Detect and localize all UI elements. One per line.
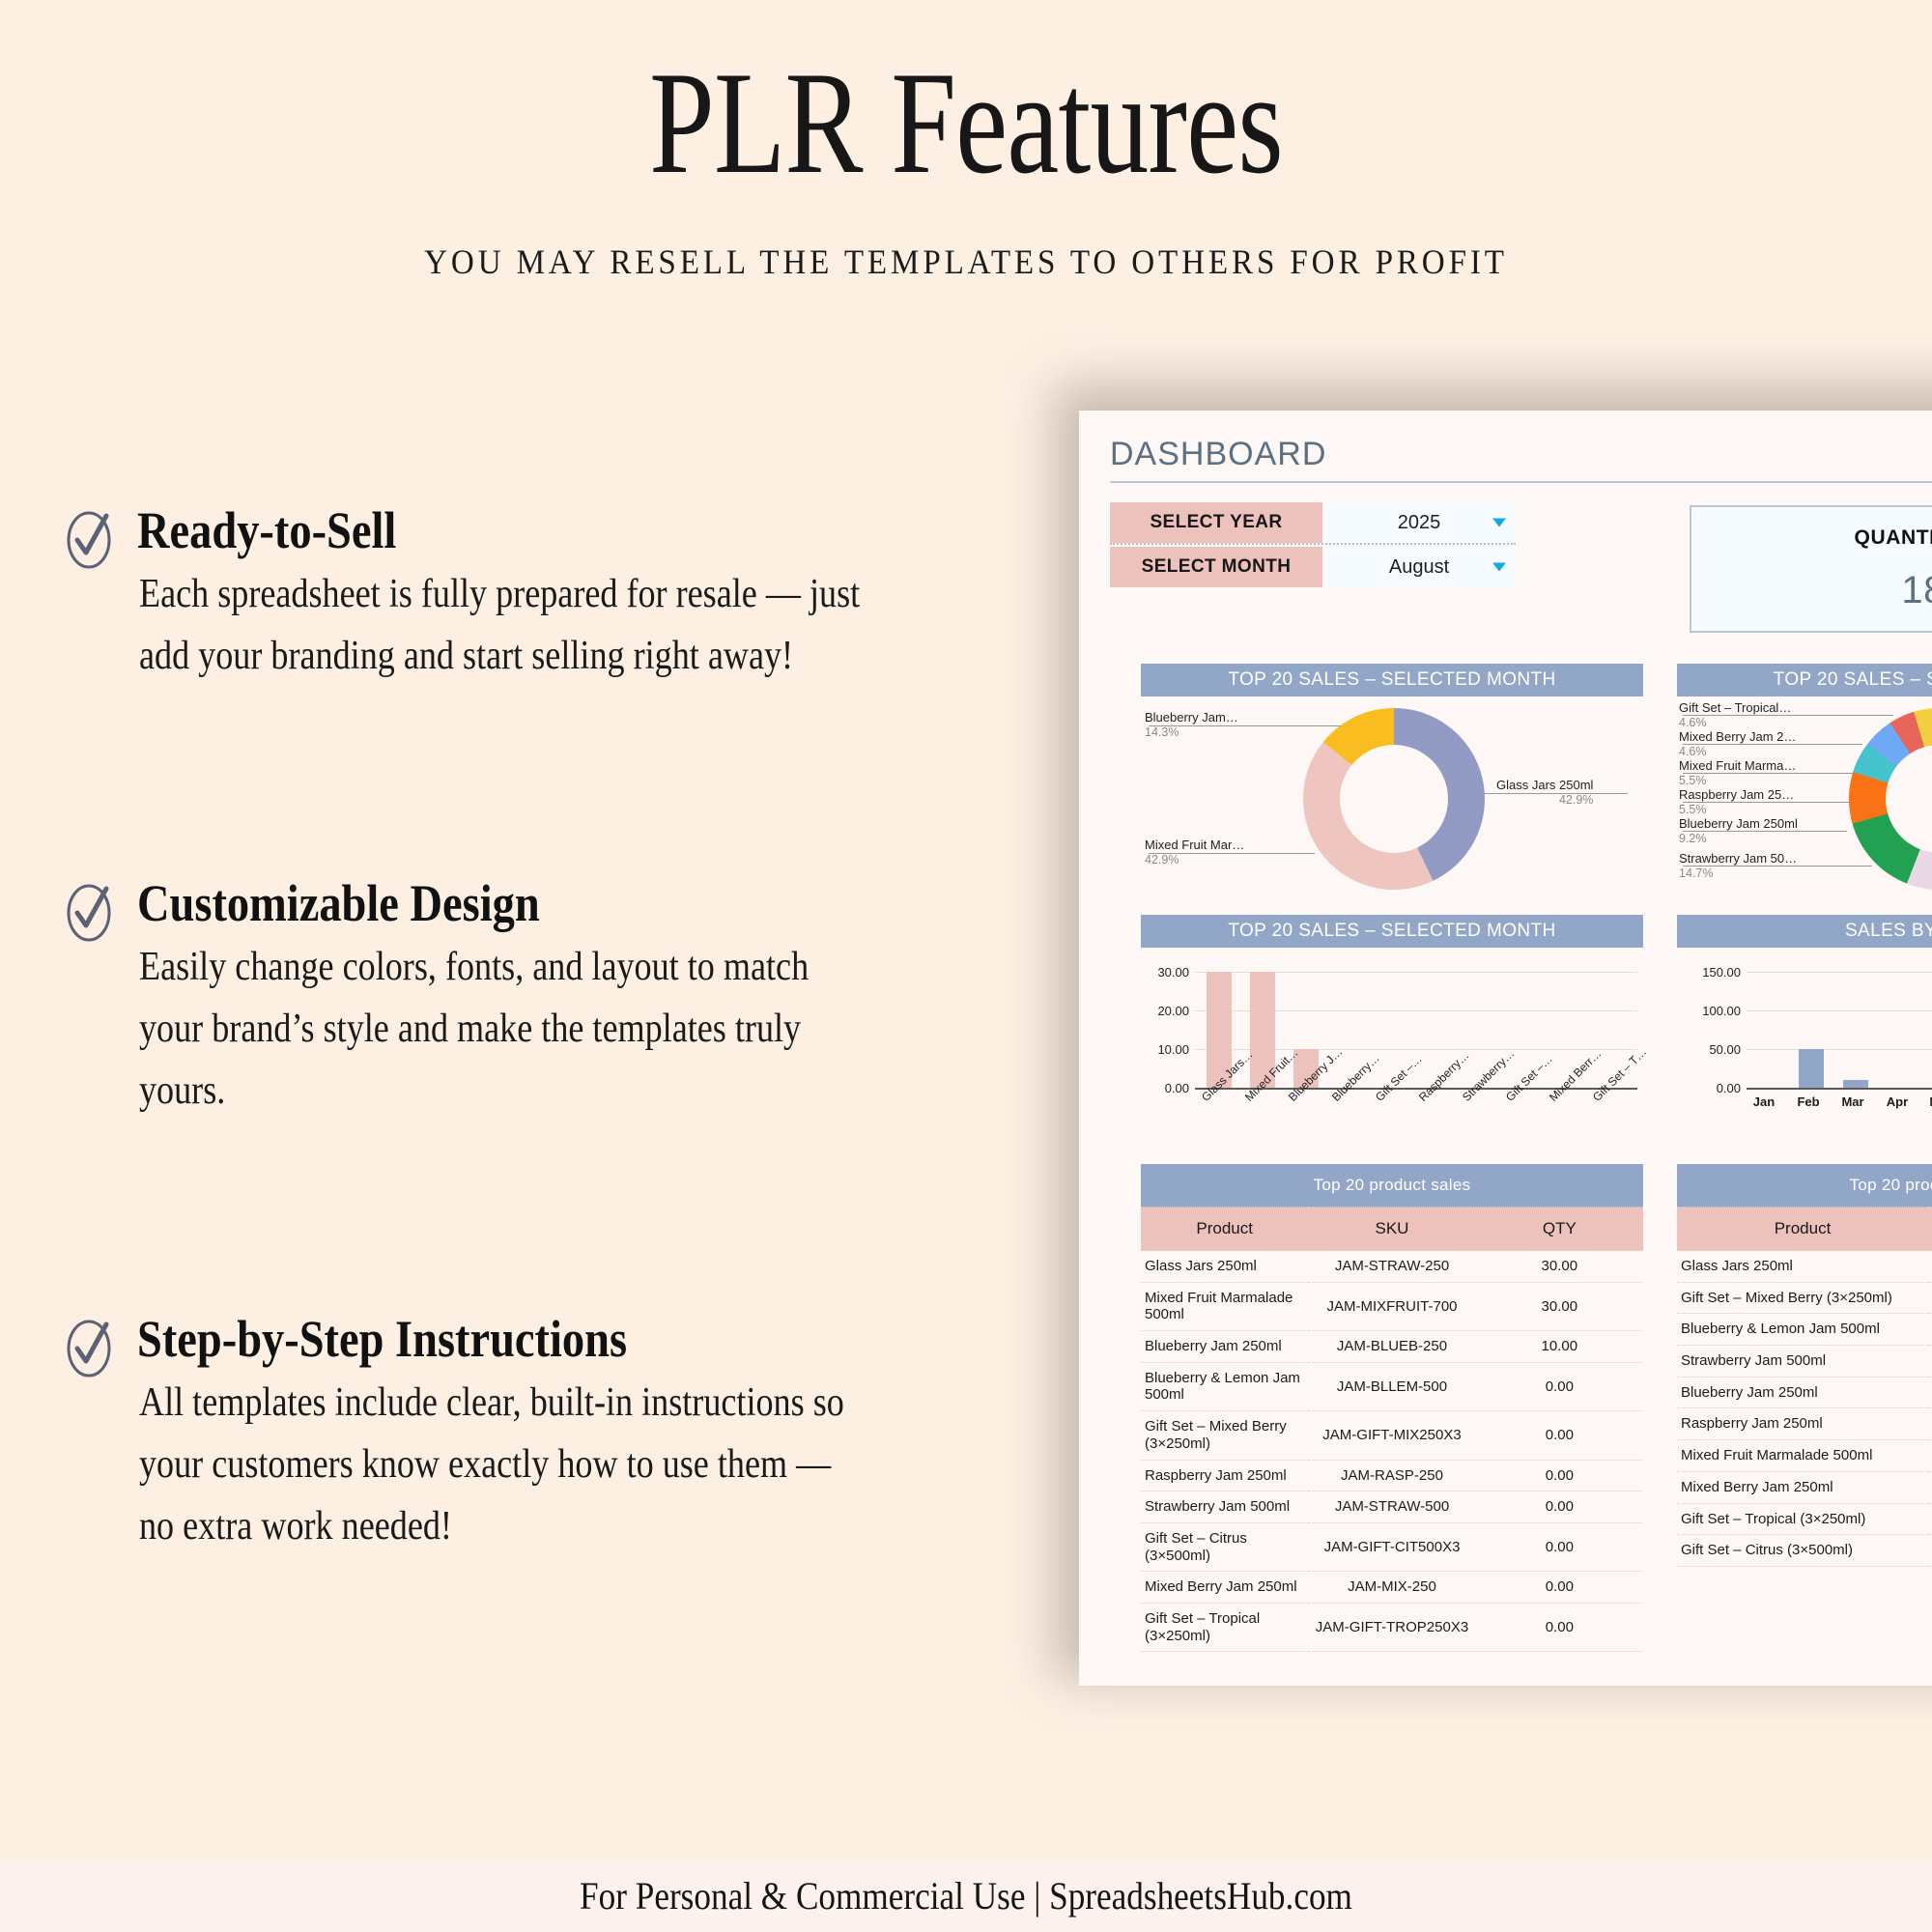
table-header-row: Product SKU xyxy=(1677,1207,1932,1251)
table-top20-product-sales-month: Top 20 product sales Product SKU QTY Gla… xyxy=(1141,1164,1643,1652)
donut-callout-value: 14.3% xyxy=(1145,725,1238,740)
cell-product: Gift Set – Tropical (3×250ml) xyxy=(1677,1503,1928,1535)
table-top20-product-sales-year: Top 20 product sales Product SKU Glass J… xyxy=(1677,1164,1932,1567)
cell-product: Gift Set – Citrus (3×500ml) xyxy=(1141,1522,1308,1571)
donut-chart-selected-year: Gift Set – Tropical… 4.6% Mixed Berry Ja… xyxy=(1677,696,1932,901)
y-tick-label: 10.00 xyxy=(1141,1042,1189,1057)
select-year-row[interactable]: SELECT YEAR 2025 xyxy=(1110,502,1516,543)
y-tick-label: 0.00 xyxy=(1141,1081,1189,1095)
table-row: Mixed Berry Jam 250ml JAM-MIX-250 0.00 xyxy=(1141,1572,1643,1604)
cell-sku: JAM-GIFT-CIT500 xyxy=(1928,1535,1932,1567)
panel-column-left: TOP 20 SALES – SELECTED MONTH Blueberry … xyxy=(1141,664,1643,1652)
cell-sku: JAM-RASP-250 xyxy=(1928,1408,1932,1440)
y-tick-label: 20.00 xyxy=(1141,1004,1189,1018)
cell-sku: JAM-MIX-250 xyxy=(1928,1471,1932,1503)
cell-product: Raspberry Jam 250ml xyxy=(1677,1408,1928,1440)
page-title: PLR Features xyxy=(193,46,1739,201)
cell-product: Blueberry Jam 250ml xyxy=(1677,1377,1928,1408)
donut-callout-value: 5.5% xyxy=(1679,803,1794,817)
cell-sku: JAM-BLLEM-500 xyxy=(1308,1362,1475,1410)
donut-callout-value: 5.5% xyxy=(1679,774,1796,788)
table-row: Raspberry Jam 250ml JAM-RASP-250 xyxy=(1677,1408,1932,1440)
select-month-value[interactable]: August xyxy=(1322,547,1516,587)
feature-body: All templates include clear, built-in in… xyxy=(139,1373,870,1557)
cell-product: Strawberry Jam 500ml xyxy=(1677,1346,1928,1378)
feature-heading: Step-by-Step Instructions xyxy=(137,1311,871,1367)
table-title: Top 20 product sales xyxy=(1677,1164,1932,1207)
x-tick-label: Mar xyxy=(1832,1094,1874,1109)
donut-callout-label: Mixed Berry Jam 2… xyxy=(1679,729,1796,744)
donut-leader-line xyxy=(1683,802,1849,803)
table-row: Gift Set – Mixed Berry (3×250ml) JAM-GIF… xyxy=(1141,1411,1643,1460)
x-tick-label: Apr xyxy=(1876,1094,1918,1109)
column-header-sku: SKU xyxy=(1928,1207,1932,1251)
column-header-product: Product xyxy=(1677,1207,1928,1251)
table-row: Blueberry & Lemon Jam 500ml JAM-BLLEM-50… xyxy=(1677,1314,1932,1346)
cell-sku: JAM-STRAW-500 xyxy=(1928,1346,1932,1378)
dashboard-title-rule xyxy=(1110,481,1932,483)
cell-product: Gift Set – Mixed Berry (3×250ml) xyxy=(1141,1411,1308,1460)
donut-leader-line xyxy=(1149,853,1315,854)
donut-callout-label: Strawberry Jam 50… xyxy=(1679,851,1797,866)
donut-leader-line xyxy=(1149,725,1342,726)
donut-callout-label: Raspberry Jam 25… xyxy=(1679,787,1794,802)
cell-qty: 30.00 xyxy=(1476,1251,1643,1283)
select-month-label: SELECT MONTH xyxy=(1110,547,1322,587)
table-row: Gift Set – Citrus (3×500ml) JAM-GIFT-CIT… xyxy=(1141,1522,1643,1571)
cell-sku: JAM-MIX-250 xyxy=(1308,1572,1475,1604)
table-row: Blueberry Jam 250ml JAM-BLUEB-250 10.00 xyxy=(1141,1331,1643,1363)
donut-hole xyxy=(1340,745,1448,853)
table-row: Gift Set – Mixed Berry (3×250ml) JAM-GIF… xyxy=(1677,1282,1932,1314)
cell-product: Glass Jars 250ml xyxy=(1677,1251,1928,1283)
cell-product: Glass Jars 250ml xyxy=(1141,1251,1308,1283)
footer-text: For Personal & Commercial Use | Spreadsh… xyxy=(116,1859,1816,1932)
panel-title-donut-year: TOP 20 SALES – SELECTED YEAR xyxy=(1677,664,1932,696)
feature-item: Ready-to-Sell Each spreadsheet is fully … xyxy=(64,502,991,688)
cell-product: Mixed Fruit Marmalade 500ml xyxy=(1141,1282,1308,1330)
table-title: Top 20 product sales xyxy=(1141,1164,1643,1207)
donut-leader-line xyxy=(1683,831,1847,832)
donut-callout-label: Gift Set – Tropical… xyxy=(1679,700,1791,715)
table-row: Gift Set – Tropical (3×250ml) JAM-GIFT-T… xyxy=(1677,1503,1932,1535)
donut-leader-line xyxy=(1683,744,1862,745)
cell-qty: 10.00 xyxy=(1476,1331,1643,1363)
table-row: Mixed Fruit Marmalade 500ml JAM-MIXFRUIT… xyxy=(1677,1440,1932,1472)
cell-sku: JAM-GIFT-MIX250X3 xyxy=(1308,1411,1475,1460)
cell-product: Gift Set – Mixed Berry (3×250ml) xyxy=(1677,1282,1928,1314)
panel-title-donut-month: TOP 20 SALES – SELECTED MONTH xyxy=(1141,664,1643,696)
donut-callout-label: Blueberry Jam… xyxy=(1145,710,1238,724)
donut-callout-value: 42.9% xyxy=(1145,853,1244,867)
table-row: Mixed Berry Jam 250ml JAM-MIX-250 xyxy=(1677,1471,1932,1503)
cell-product: Mixed Fruit Marmalade 500ml xyxy=(1677,1440,1928,1472)
donut-callout-value: 42.9% xyxy=(1496,793,1593,808)
cell-sku: JAM-GIFT-MIX250 xyxy=(1928,1282,1932,1314)
cell-product: Gift Set – Tropical (3×250ml) xyxy=(1141,1603,1308,1651)
table-row: Glass Jars 250ml JAM-STRAW-250 xyxy=(1677,1251,1932,1283)
bar xyxy=(1843,1080,1868,1088)
x-tick-label: Feb xyxy=(1787,1094,1830,1109)
dashboard-card: DASHBOARD SELECT YEAR 2025 SELECT MONTH … xyxy=(1079,411,1932,1686)
dashboard-title: DASHBOARD xyxy=(1110,436,1932,473)
table-row: Gift Set – Citrus (3×500ml) JAM-GIFT-CIT… xyxy=(1677,1535,1932,1567)
select-year-text: 2025 xyxy=(1398,512,1441,534)
column-header-sku: SKU xyxy=(1308,1207,1475,1251)
panel-title-bars-month: TOP 20 SALES – SELECTED MONTH xyxy=(1141,915,1643,948)
quantity-in-stock-value: 1899.5 xyxy=(1901,569,1932,612)
table-row: Strawberry Jam 500ml JAM-STRAW-500 xyxy=(1677,1346,1932,1378)
table-row: Gift Set – Tropical (3×250ml) JAM-GIFT-T… xyxy=(1141,1603,1643,1651)
bar xyxy=(1799,1049,1824,1088)
table-row: Strawberry Jam 500ml JAM-STRAW-500 0.00 xyxy=(1141,1492,1643,1523)
feature-heading: Customizable Design xyxy=(137,875,871,931)
table-row: Blueberry & Lemon Jam 500ml JAM-BLLEM-50… xyxy=(1141,1362,1643,1410)
quantity-in-stock-label: QUANTITY IN STOCK xyxy=(1855,526,1932,550)
donut-callout-label: Blueberry Jam 250ml xyxy=(1679,816,1798,831)
cell-sku: JAM-STRAW-500 xyxy=(1308,1492,1475,1523)
table-header-row: Product SKU QTY xyxy=(1141,1207,1643,1251)
cell-sku: JAM-BLLEM-500 xyxy=(1928,1314,1932,1346)
cell-qty: 0.00 xyxy=(1476,1492,1643,1523)
check-oval-icon xyxy=(64,883,114,943)
panel-column-right: TOP 20 SALES – SELECTED YEAR Gift Set – … xyxy=(1677,664,1932,1567)
cell-qty: 0.00 xyxy=(1476,1572,1643,1604)
donut-leader-line xyxy=(1683,773,1853,774)
cell-qty: 0.00 xyxy=(1476,1362,1643,1410)
cell-product: Mixed Berry Jam 250ml xyxy=(1677,1471,1928,1503)
cell-qty: 0.00 xyxy=(1476,1460,1643,1492)
cell-sku: JAM-GIFT-CIT500X3 xyxy=(1308,1522,1475,1571)
cell-product: Strawberry Jam 500ml xyxy=(1141,1492,1308,1523)
dashboard-selectors: SELECT YEAR 2025 SELECT MONTH August xyxy=(1110,502,1516,587)
table-row: Blueberry Jam 250ml JAM-BLUEB-250 xyxy=(1677,1377,1932,1408)
donut-leader-line xyxy=(1683,866,1872,867)
donut-callout-value: 14.7% xyxy=(1679,867,1797,881)
page-subtitle: YOU MAY RESELL THE TEMPLATES TO OTHERS F… xyxy=(77,241,1855,282)
cell-product: Blueberry Jam 250ml xyxy=(1141,1331,1308,1363)
feature-heading: Ready-to-Sell xyxy=(137,502,871,558)
feature-item: Customizable Design Easily change colors… xyxy=(64,875,991,1122)
donut-callout-value: 9.2% xyxy=(1679,832,1798,846)
donut-callout-label: Glass Jars 250ml xyxy=(1496,778,1593,792)
donut-callout-value: 4.6% xyxy=(1679,716,1791,730)
panel-title-bars-year: SALES BY MONTH xyxy=(1677,915,1932,948)
feature-body: Each spreadsheet is fully prepared for r… xyxy=(139,564,870,688)
y-tick-label: 100.00 xyxy=(1677,1004,1741,1018)
cell-product: Raspberry Jam 250ml xyxy=(1141,1460,1308,1492)
x-tick-label: May xyxy=(1920,1094,1932,1109)
y-tick-label: 150.00 xyxy=(1677,965,1741,980)
donut-callout-value: 4.6% xyxy=(1679,745,1796,759)
column-header-product: Product xyxy=(1141,1207,1308,1251)
cell-qty: 30.00 xyxy=(1476,1282,1643,1330)
table-title-row: Top 20 product sales xyxy=(1677,1164,1932,1207)
select-month-text: August xyxy=(1389,556,1449,579)
cell-product: Gift Set – Citrus (3×500ml) xyxy=(1677,1535,1928,1567)
x-tick-label: Jan xyxy=(1743,1094,1785,1109)
feature-body: Easily change colors, fonts, and layout … xyxy=(139,937,870,1122)
donut-leader-line xyxy=(1481,793,1628,794)
y-tick-label: 0.00 xyxy=(1677,1081,1741,1095)
quantity-in-stock-card: QUANTITY IN STOCK 1899.5 xyxy=(1690,505,1932,633)
cell-qty: 0.00 xyxy=(1476,1411,1643,1460)
table-row: Glass Jars 250ml JAM-STRAW-250 30.00 xyxy=(1141,1251,1643,1283)
chevron-down-icon[interactable] xyxy=(1492,563,1506,572)
y-tick-label: 30.00 xyxy=(1141,965,1189,980)
donut-callout-label: Mixed Fruit Mar… xyxy=(1145,838,1244,852)
feature-item: Step-by-Step Instructions All templates … xyxy=(64,1311,991,1558)
select-month-row[interactable]: SELECT MONTH August xyxy=(1110,547,1516,587)
cell-sku: JAM-GIFT-TROP25 xyxy=(1928,1503,1932,1535)
cell-sku: JAM-GIFT-TROP250X3 xyxy=(1308,1603,1475,1651)
feature-list: Ready-to-Sell Each spreadsheet is fully … xyxy=(64,502,991,1246)
cell-sku: JAM-MIXFRUIT-7 xyxy=(1928,1440,1932,1472)
cell-sku: JAM-MIXFRUIT-700 xyxy=(1308,1282,1475,1330)
cell-sku: JAM-RASP-250 xyxy=(1308,1460,1475,1492)
donut-chart-selected-month: Blueberry Jam… 14.3% Glass Jars 250ml 42… xyxy=(1141,696,1643,901)
bar-chart-sales-by-month: 150.00 100.00 50.00 0.00 xyxy=(1677,948,1932,1149)
cell-sku: JAM-BLUEB-250 xyxy=(1308,1331,1475,1363)
cell-sku: JAM-STRAW-250 xyxy=(1308,1251,1475,1283)
check-oval-icon xyxy=(64,1319,114,1378)
y-tick-label: 50.00 xyxy=(1677,1042,1741,1057)
donut-callout-label: Mixed Fruit Marma… xyxy=(1679,758,1796,773)
donut-leader-line xyxy=(1683,715,1893,716)
bar-chart-top20-selected-month: 30.00 20.00 10.00 0.00 Glass Jars… Mixed… xyxy=(1141,948,1643,1149)
table-title-row: Top 20 product sales xyxy=(1141,1164,1643,1207)
column-header-qty: QTY xyxy=(1476,1207,1643,1251)
chevron-down-icon[interactable] xyxy=(1492,519,1506,527)
table-row: Raspberry Jam 250ml JAM-RASP-250 0.00 xyxy=(1141,1460,1643,1492)
cell-product: Blueberry & Lemon Jam 500ml xyxy=(1141,1362,1308,1410)
cell-sku: JAM-BLUEB-250 xyxy=(1928,1377,1932,1408)
table-row: Mixed Fruit Marmalade 500ml JAM-MIXFRUIT… xyxy=(1141,1282,1643,1330)
cell-qty: 0.00 xyxy=(1476,1603,1643,1651)
cell-product: Mixed Berry Jam 250ml xyxy=(1141,1572,1308,1604)
cell-product: Blueberry & Lemon Jam 500ml xyxy=(1677,1314,1928,1346)
cell-qty: 0.00 xyxy=(1476,1522,1643,1571)
select-year-label: SELECT YEAR xyxy=(1110,502,1322,543)
select-year-value[interactable]: 2025 xyxy=(1322,502,1516,543)
check-oval-icon xyxy=(64,510,114,570)
cell-sku: JAM-STRAW-250 xyxy=(1928,1251,1932,1283)
